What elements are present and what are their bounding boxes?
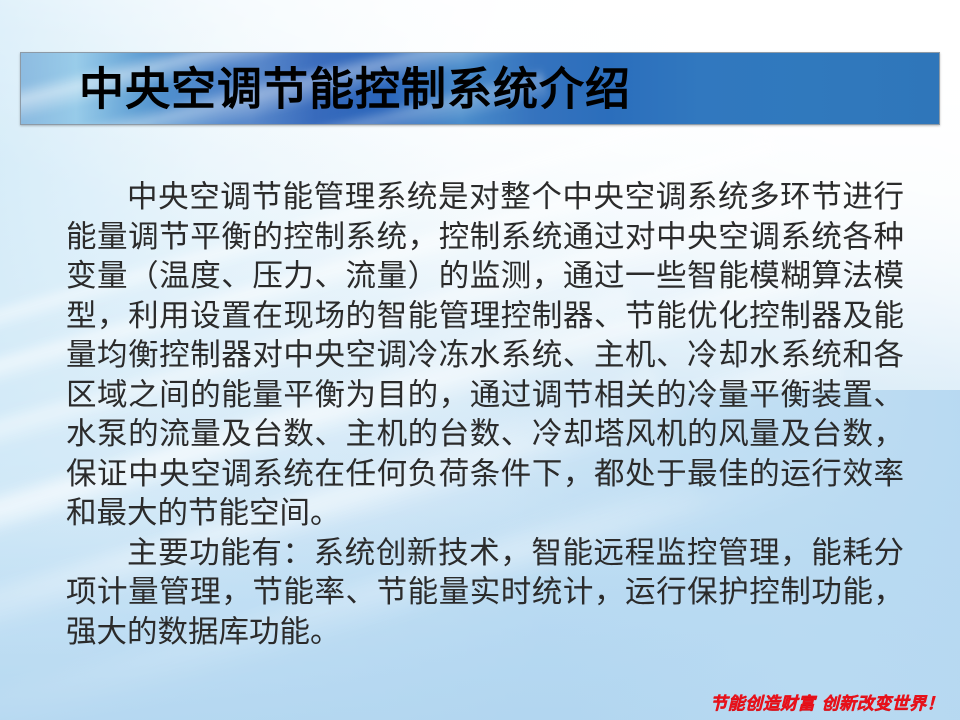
page-title: 中央空调节能控制系统介绍 xyxy=(79,66,631,111)
footer-slogan: 节能创造财富 创新改变世界！ xyxy=(710,689,944,714)
slide-canvas: 中央空调节能控制系统介绍 中央空调节能管理系统是对整个中央空调系统多环节进行能量… xyxy=(0,0,960,720)
body-paragraph-2: 主要功能有：系统创新技术，智能远程监控管理，能耗分项计量管理，节能率、节能量实时… xyxy=(66,534,904,653)
slide-body-text: 中央空调节能管理系统是对整个中央空调系统多环节进行能量调节平衡的控制系统，控制系… xyxy=(66,178,904,652)
slide-title-banner: 中央空调节能控制系统介绍 xyxy=(20,52,940,125)
body-paragraph-1: 中央空调节能管理系统是对整个中央空调系统多环节进行能量调节平衡的控制系统，控制系… xyxy=(66,178,904,534)
